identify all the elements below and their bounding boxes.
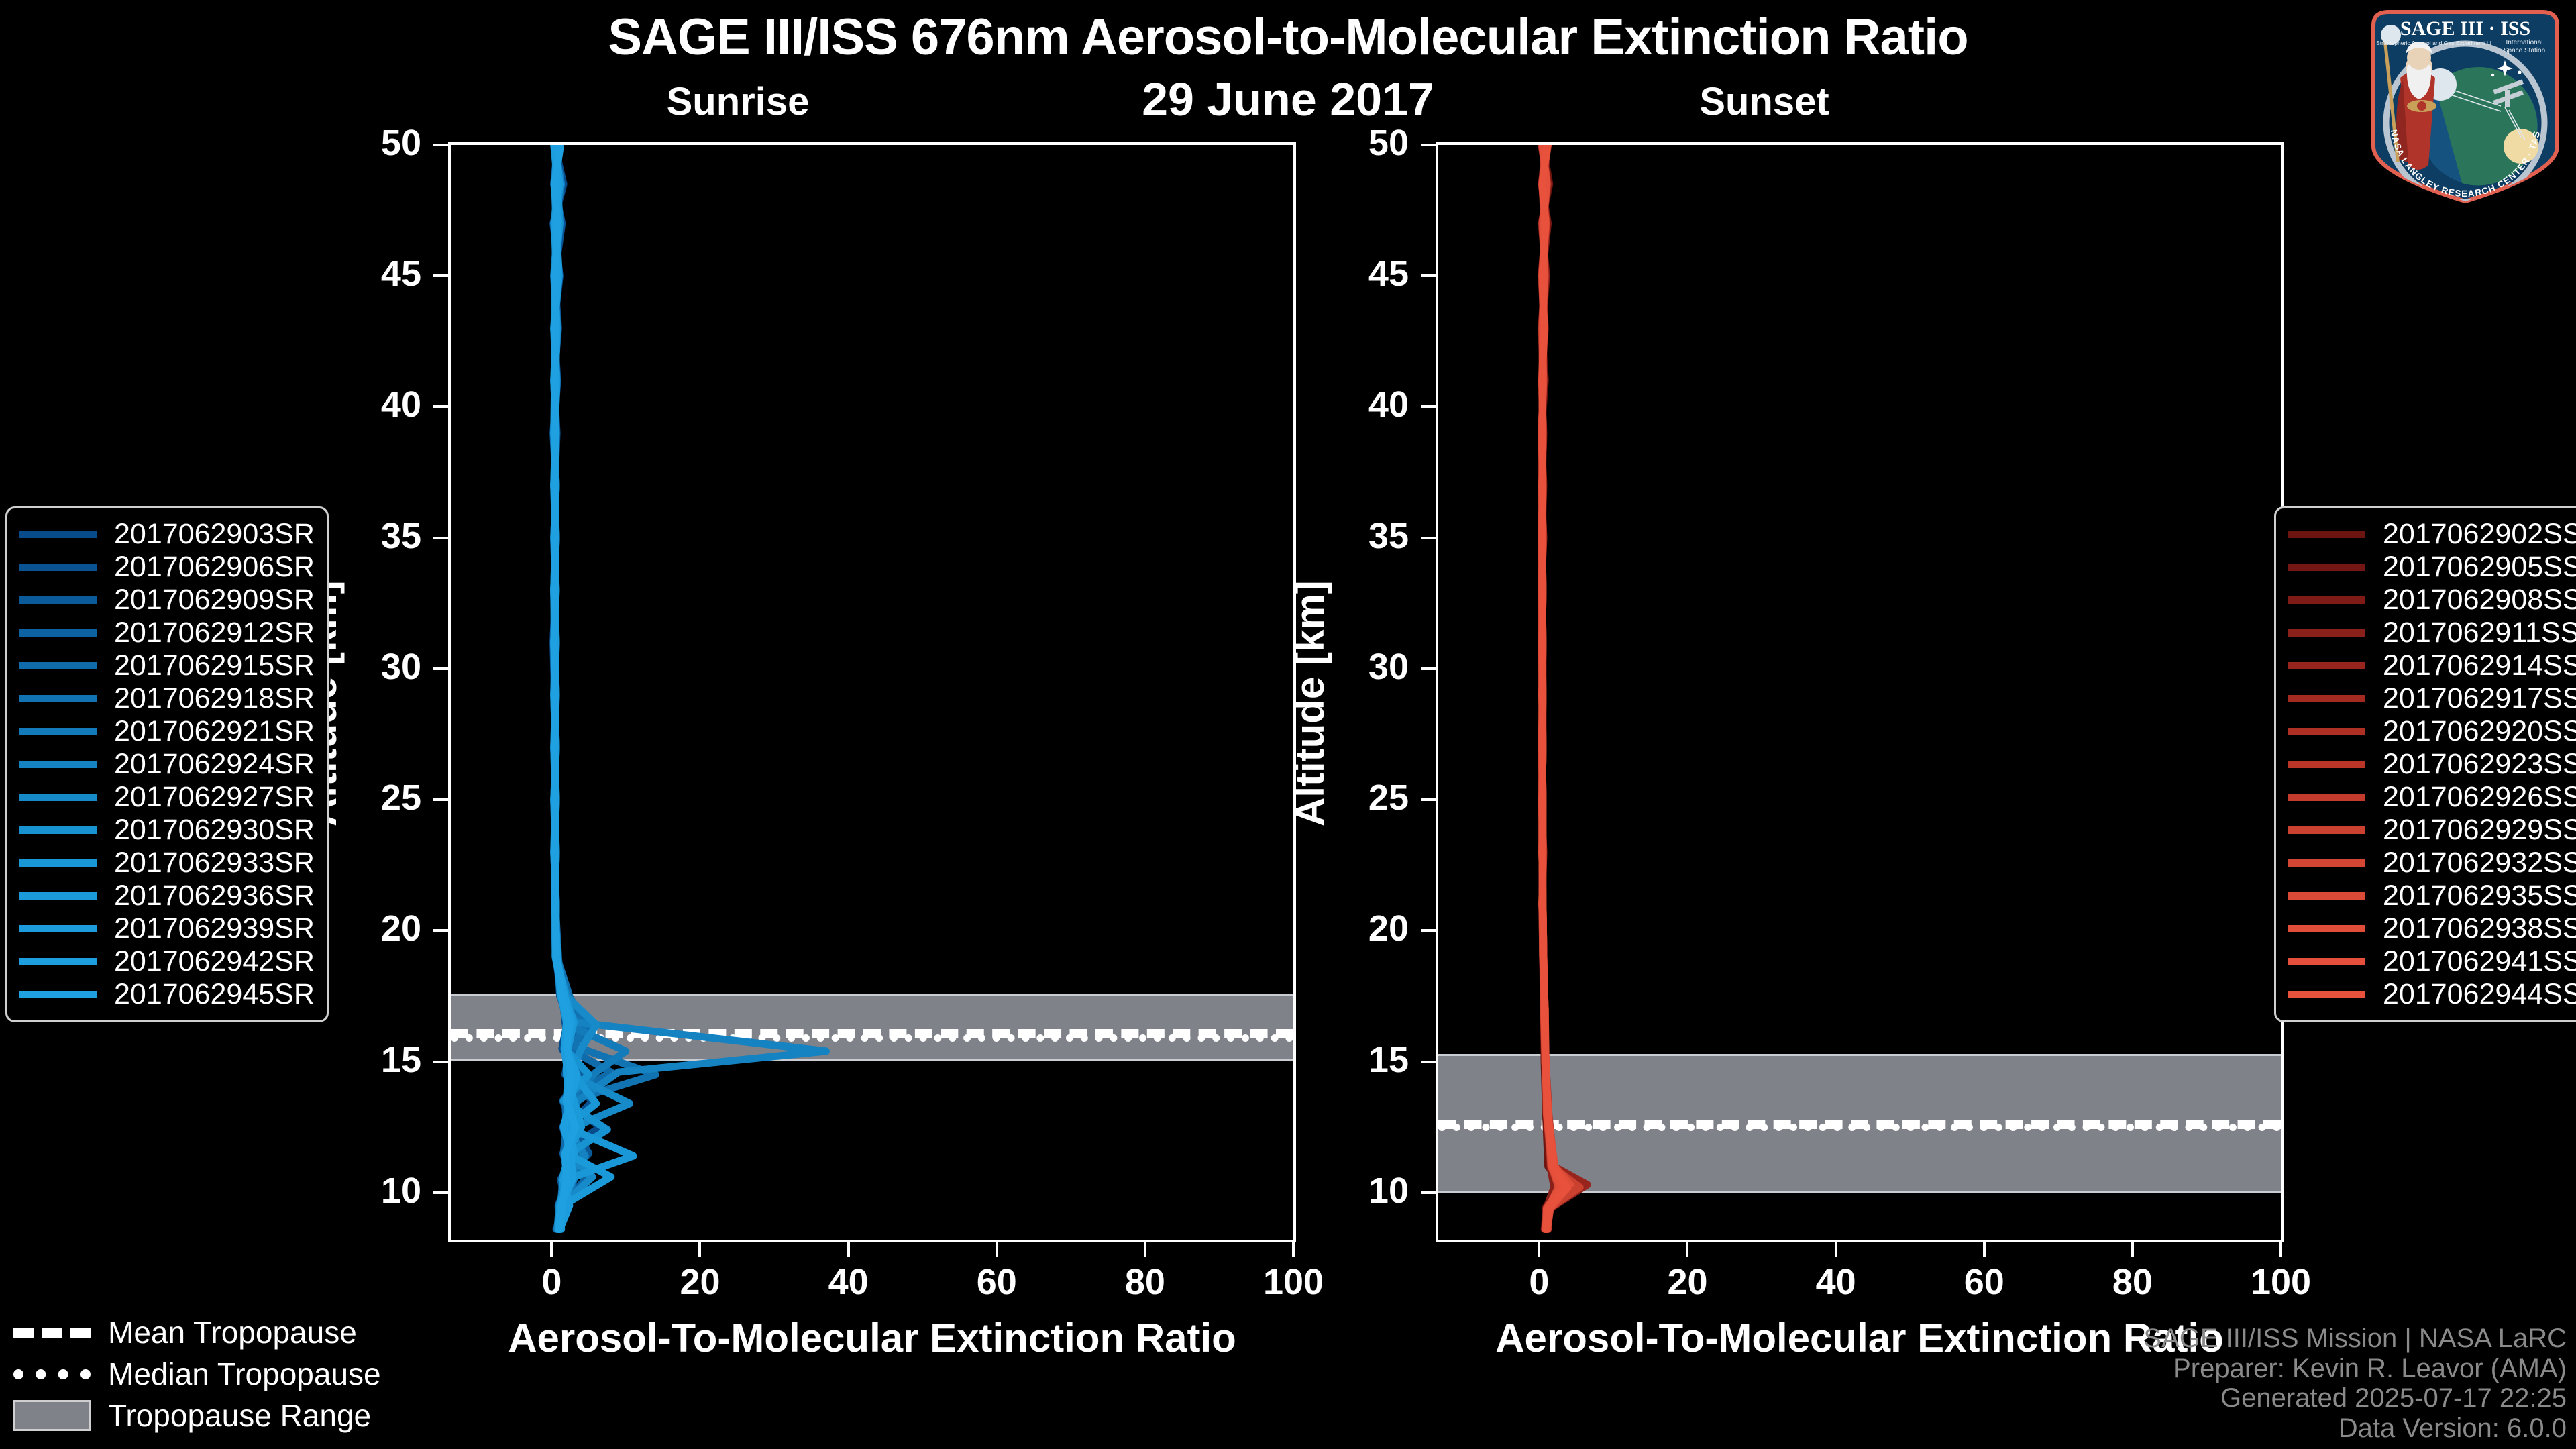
y-axis-tick	[1421, 667, 1436, 670]
legend-item[interactable]: 2017062918SR	[19, 682, 315, 715]
y-axis-tick-label: 20	[1308, 908, 1409, 949]
plot-panel-sunrise[interactable]	[448, 142, 1296, 1242]
legend-item[interactable]: 2017062915SR	[19, 649, 315, 682]
y-axis-tick	[433, 405, 448, 408]
x-axis-tick	[996, 1242, 998, 1257]
y-axis-tick	[433, 274, 448, 277]
legend-item[interactable]: 2017062902SS	[2288, 518, 2576, 551]
x-axis-tick	[698, 1242, 701, 1257]
legend-color-swatch	[19, 629, 97, 637]
legend-item-tropopause-range: Tropopause Range	[13, 1395, 381, 1436]
y-axis-tick	[433, 1191, 448, 1194]
legend-item[interactable]: 2017062944SS	[2288, 978, 2576, 1011]
footer-line-generated: Generated 2025-07-17 22:25	[2143, 1383, 2567, 1413]
legend-item[interactable]: 2017062920SS	[2288, 715, 2576, 748]
legend-color-swatch	[2288, 794, 2365, 801]
legend-color-swatch	[19, 826, 97, 834]
legend-color-swatch	[19, 859, 97, 867]
legend-item[interactable]: 2017062933SR	[19, 847, 315, 879]
x-axis-tick-label: 60	[1917, 1261, 2051, 1303]
x-axis-tick	[1983, 1242, 1986, 1257]
legend-label: 2017062938SS	[2383, 912, 2576, 945]
y-axis-tick	[433, 798, 448, 801]
legend-color-swatch	[2288, 662, 2365, 669]
legend-item[interactable]: 2017062926SS	[2288, 781, 2576, 814]
legend-label: 2017062927SR	[114, 781, 315, 814]
y-axis-tick-label: 45	[321, 253, 421, 294]
legend-item[interactable]: 2017062908SS	[2288, 584, 2576, 616]
legend-item[interactable]: 2017062935SS	[2288, 879, 2576, 912]
legend-item[interactable]: 2017062942SR	[19, 945, 315, 978]
y-axis-tick	[1421, 405, 1436, 408]
y-axis-tick	[1421, 537, 1436, 539]
legend-color-swatch	[19, 531, 97, 538]
y-axis-tick-label: 35	[1308, 515, 1409, 557]
x-axis-tick	[550, 1242, 553, 1257]
y-axis-tick	[1421, 144, 1436, 146]
logo-subtitle-line2a: International	[2506, 39, 2542, 46]
x-axis-tick-label: 0	[484, 1261, 619, 1303]
legend-label: 2017062944SS	[2383, 978, 2576, 1011]
y-axis-tick	[433, 667, 448, 670]
legend-label: 2017062917SS	[2383, 682, 2576, 715]
y-axis-tick-label: 10	[1308, 1170, 1409, 1212]
x-axis-tick-label: 60	[930, 1261, 1064, 1303]
legend-color-swatch	[2288, 695, 2365, 702]
x-axis-tick-label: 80	[2065, 1261, 2200, 1303]
legend-label: 2017062935SS	[2383, 879, 2576, 912]
legend-label: 2017062905SS	[2383, 551, 2576, 584]
x-axis-tick	[1538, 1242, 1540, 1257]
legend-label: 2017062939SR	[114, 912, 315, 945]
y-axis-tick	[1421, 1191, 1436, 1194]
legend-label: 2017062921SR	[114, 715, 315, 748]
legend-color-swatch	[2288, 991, 2365, 998]
legend-label: 2017062933SR	[114, 847, 315, 879]
legend-color-swatch	[19, 761, 97, 768]
legend-sunrise[interactable]: 2017062903SR2017062906SR2017062909SR2017…	[5, 506, 329, 1022]
dotted-line-icon	[13, 1369, 91, 1379]
legend-color-swatch	[2288, 958, 2365, 965]
x-axis-tick	[1292, 1242, 1295, 1257]
y-axis-title: Altitude [km]	[1287, 580, 1333, 826]
y-axis-tick	[433, 929, 448, 932]
legend-label: 2017062942SR	[114, 945, 315, 978]
dashed-line-icon	[13, 1328, 91, 1338]
legend-item[interactable]: 2017062911SS	[2288, 616, 2576, 649]
legend-color-swatch	[2288, 859, 2365, 867]
legend-color-swatch	[2288, 563, 2365, 571]
legend-label: 2017062930SR	[114, 814, 315, 847]
y-axis-tick	[1421, 1061, 1436, 1063]
legend-item[interactable]: 2017062941SS	[2288, 945, 2576, 978]
legend-item-median-tropopause: Median Tropopause	[13, 1353, 381, 1395]
legend-item[interactable]: 2017062939SR	[19, 912, 315, 945]
legend-label: 2017062915SR	[114, 649, 315, 682]
logo-name: SAGE III · ISS	[2400, 17, 2530, 40]
chart-subtitle: 29 June 2017	[0, 72, 2576, 126]
legend-item[interactable]: 2017062909SR	[19, 584, 315, 616]
x-axis-tick-label: 20	[633, 1261, 767, 1303]
legend-item[interactable]: 2017062914SS	[2288, 649, 2576, 682]
legend-item[interactable]: 2017062905SS	[2288, 551, 2576, 584]
x-axis-tick-label: 0	[1472, 1261, 1606, 1303]
y-axis-tick-label: 50	[1308, 122, 1409, 164]
y-axis-tick-label: 10	[321, 1170, 421, 1212]
legend-color-swatch	[2288, 826, 2365, 834]
legend-color-swatch	[2288, 892, 2365, 900]
legend-label: 2017062914SS	[2383, 649, 2576, 682]
legend-label-median-tropopause: Median Tropopause	[108, 1356, 381, 1392]
legend-label: 2017062909SR	[114, 584, 315, 616]
series-lines-sunset	[1438, 145, 2281, 1240]
legend-item[interactable]: 2017062929SS	[2288, 814, 2576, 847]
legend-label: 2017062903SR	[114, 518, 315, 551]
panel-caption-sunset: Sunset	[1630, 79, 1898, 124]
legend-color-swatch	[2288, 596, 2365, 604]
legend-color-swatch	[19, 662, 97, 669]
legend-color-swatch	[2288, 761, 2365, 768]
legend-color-swatch	[19, 596, 97, 604]
legend-tropopause: Mean Tropopause Median Tropopause Tropop…	[13, 1311, 381, 1436]
legend-item-mean-tropopause: Mean Tropopause	[13, 1311, 381, 1353]
legend-label: 2017062908SS	[2383, 584, 2576, 616]
legend-color-swatch	[19, 728, 97, 735]
panel-caption-sunrise: Sunrise	[604, 79, 872, 124]
x-axis-tick-label: 20	[1620, 1261, 1754, 1303]
x-axis-tick-label: 40	[782, 1261, 916, 1303]
filled-band-icon	[13, 1400, 91, 1431]
plot-area-sunset	[1438, 145, 2281, 1240]
sage-iii-iss-mission-patch-logo: SAGE III · ISS Stratospheric Aerosol and…	[2361, 5, 2569, 207]
legend-item[interactable]: 2017062924SR	[19, 748, 315, 781]
y-axis-tick-label: 15	[1308, 1039, 1409, 1081]
footer-line-mission: SAGE III/ISS Mission | NASA LaRC	[2143, 1324, 2567, 1354]
legend-color-swatch	[19, 892, 97, 900]
legend-label: 2017062941SS	[2383, 945, 2576, 978]
legend-label: 2017062902SS	[2383, 518, 2576, 551]
legend-label: 2017062920SS	[2383, 715, 2576, 748]
series-lines-sunrise	[451, 145, 1293, 1240]
legend-label-tropopause-range: Tropopause Range	[108, 1397, 371, 1434]
legend-item[interactable]: 2017062923SS	[2288, 748, 2576, 781]
legend-label: 2017062923SS	[2383, 748, 2576, 781]
x-axis-tick	[847, 1242, 850, 1257]
y-axis-tick	[1421, 274, 1436, 277]
legend-item[interactable]: 2017062945SR	[19, 978, 315, 1011]
footer-line-data-version: Data Version: 6.0.0	[2143, 1413, 2567, 1444]
x-axis-tick	[1144, 1242, 1146, 1257]
x-axis-tick-label: 100	[2214, 1261, 2348, 1303]
legend-item[interactable]: 2017062936SR	[19, 879, 315, 912]
footer: SAGE III/ISS Mission | NASA LaRC Prepare…	[2143, 1324, 2567, 1444]
legend-item[interactable]: 2017062927SR	[19, 781, 315, 814]
legend-label: 2017062906SR	[114, 551, 315, 584]
x-axis-tick-label: 80	[1078, 1261, 1212, 1303]
y-axis-tick	[1421, 798, 1436, 801]
legend-item[interactable]: 2017062903SR	[19, 518, 315, 551]
legend-label: 2017062945SR	[114, 978, 315, 1011]
y-axis-tick-label: 50	[321, 122, 421, 164]
legend-label: 2017062911SS	[2383, 616, 2576, 649]
legend-item[interactable]: 2017062917SS	[2288, 682, 2576, 715]
y-axis-tick	[1421, 929, 1436, 932]
legend-label: 2017062936SR	[114, 879, 315, 912]
y-axis-tick-label: 40	[1308, 384, 1409, 425]
legend-color-swatch	[19, 958, 97, 965]
legend-label: 2017062912SR	[114, 616, 315, 649]
logo-subtitle-line2b: Space Station	[2504, 47, 2545, 54]
legend-item[interactable]: 2017062912SR	[19, 616, 315, 649]
legend-label-mean-tropopause: Mean Tropopause	[108, 1314, 357, 1350]
legend-item[interactable]: 2017062906SR	[19, 551, 315, 584]
x-axis-tick-label: 40	[1769, 1261, 1903, 1303]
y-axis-tick	[433, 537, 448, 539]
legend-item[interactable]: 2017062932SS	[2288, 847, 2576, 879]
y-axis-tick-label: 45	[1308, 253, 1409, 294]
footer-line-preparer: Preparer: Kevin R. Leavor (AMA)	[2143, 1354, 2567, 1384]
x-axis-title: Aerosol-To-Molecular Extinction Ratio	[448, 1315, 1296, 1361]
legend-color-swatch	[19, 695, 97, 702]
legend-color-swatch	[19, 991, 97, 998]
y-axis-tick-label: 20	[321, 908, 421, 949]
legend-label: 2017062932SS	[2383, 847, 2576, 879]
legend-color-swatch	[2288, 925, 2365, 932]
legend-color-swatch	[2288, 728, 2365, 735]
x-axis-tick-label: 100	[1226, 1261, 1360, 1303]
legend-label: 2017062929SS	[2383, 814, 2576, 847]
x-axis-tick	[2279, 1242, 2282, 1257]
y-axis-tick-label: 15	[321, 1039, 421, 1081]
legend-color-swatch	[2288, 531, 2365, 538]
y-axis-tick	[433, 144, 448, 146]
legend-label: 2017062918SR	[114, 682, 315, 715]
legend-color-swatch	[19, 794, 97, 801]
legend-color-swatch	[2288, 629, 2365, 637]
legend-color-swatch	[19, 925, 97, 932]
y-axis-tick	[433, 1061, 448, 1063]
x-axis-tick	[2131, 1242, 2134, 1257]
logo-subtitle-line1: Stratospheric Aerosol and Gas Experiment…	[2376, 40, 2491, 46]
x-axis-tick	[1835, 1242, 1837, 1257]
y-axis-tick-label: 40	[321, 384, 421, 425]
plot-panel-sunset[interactable]	[1436, 142, 2284, 1242]
legend-color-swatch	[19, 563, 97, 571]
page-title: SAGE III/ISS 676nm Aerosol-to-Molecular …	[0, 8, 2576, 66]
y-axis-tick-label: 35	[321, 515, 421, 557]
legend-item[interactable]: 2017062921SR	[19, 715, 315, 748]
legend-label: 2017062926SS	[2383, 781, 2576, 814]
legend-item[interactable]: 2017062930SR	[19, 814, 315, 847]
legend-item[interactable]: 2017062938SS	[2288, 912, 2576, 945]
legend-sunset[interactable]: 2017062902SS2017062905SS2017062908SS2017…	[2274, 506, 2576, 1022]
x-axis-tick	[1686, 1242, 1688, 1257]
legend-label: 2017062924SR	[114, 748, 315, 781]
plot-area-sunrise	[451, 145, 1293, 1240]
